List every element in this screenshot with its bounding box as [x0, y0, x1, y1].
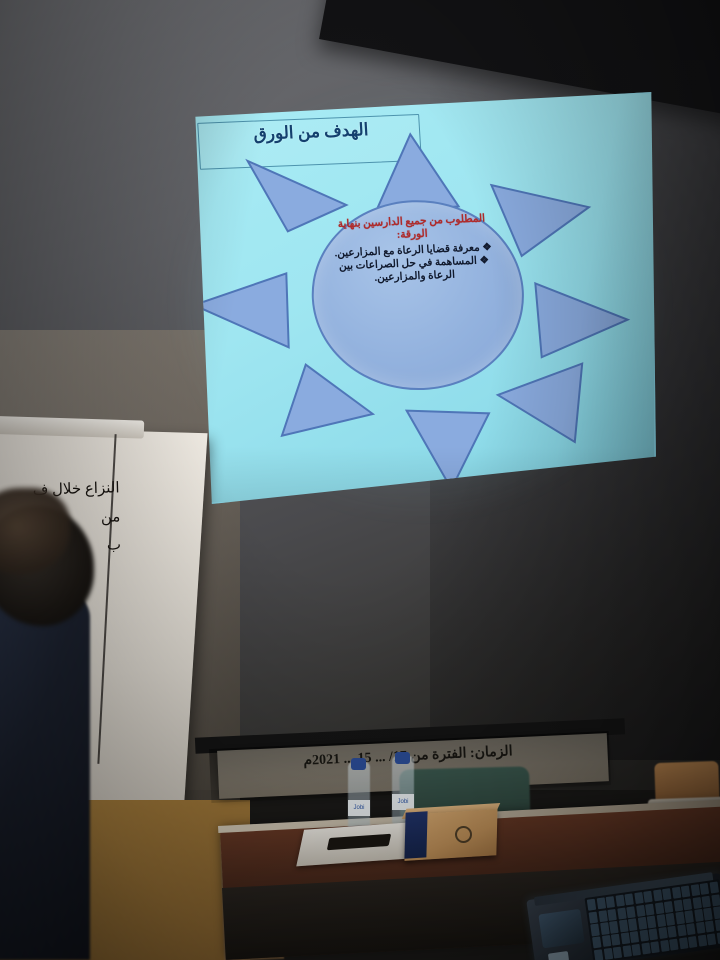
cardboard-box-blue-panel [404, 811, 427, 859]
triangle-right [535, 280, 634, 362]
presentation-slide: الهدف من الورق [186, 92, 656, 504]
bottle-brand-left: Jobi [348, 800, 370, 816]
bottle-cap-left [351, 758, 366, 770]
presenter-body [0, 590, 90, 960]
bottle-cap-right [395, 752, 410, 764]
triangle-bottom-right [496, 363, 593, 449]
room-photo: الهدف من الورق [0, 0, 720, 960]
central-oval-text: المطلوب من جميع الدارسين بنهاية الورقة: … [329, 213, 497, 288]
slide-content: الهدف من الورق [186, 92, 656, 504]
laptop-trackpad[interactable] [538, 909, 584, 949]
water-bottle-left [348, 762, 370, 832]
bottle-label-left: Jobi [348, 800, 370, 816]
triangle-left [192, 273, 295, 355]
oval-heading: المطلوب من جميع الدارسين بنهاية الورقة: [329, 213, 494, 245]
presenter-person [0, 480, 110, 960]
oval-bullet-list: ❖ معرفة قضايا الرعاة مع المزارعين. ❖ الم… [331, 242, 497, 288]
laptop-badge [548, 951, 569, 960]
projection-screen: الهدف من الورق [186, 92, 656, 504]
oval-bullet-2: ❖ المساهمة في حل الصراعات بين الرعاة وال… [332, 255, 497, 287]
